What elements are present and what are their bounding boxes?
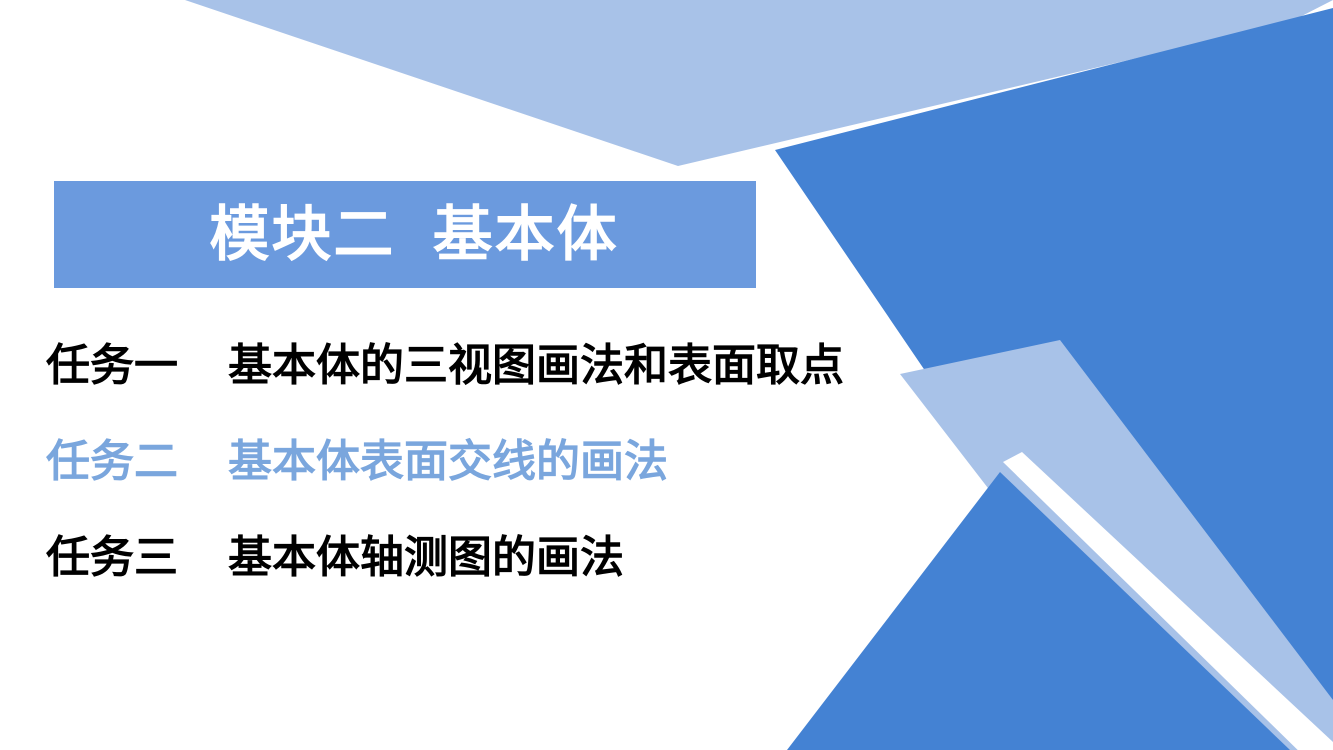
task-item-3-title: 基本体轴测图的画法 [228,510,624,606]
task-list: 任务一 基本体的三视图画法和表面取点 任务二 基本体表面交线的画法 任务三 基本… [46,318,1026,606]
task-item-2-title: 基本体表面交线的画法 [228,414,668,510]
task-item-2[interactable]: 任务二 基本体表面交线的画法 [46,414,1026,510]
slide-canvas: 模块二 基本体 任务一 基本体的三视图画法和表面取点 任务二 基本体表面交线的画… [0,0,1333,750]
task-item-2-label: 任务二 [46,414,228,510]
module-title-text: 模块二 基本体 [209,205,618,265]
task-item-1-title: 基本体的三视图画法和表面取点 [228,318,844,414]
slide-content: 模块二 基本体 任务一 基本体的三视图画法和表面取点 任务二 基本体表面交线的画… [0,0,1333,750]
task-item-3-label: 任务三 [46,510,228,606]
task-item-1-label: 任务一 [46,318,228,414]
task-item-1[interactable]: 任务一 基本体的三视图画法和表面取点 [46,318,1026,414]
task-item-3[interactable]: 任务三 基本体轴测图的画法 [46,510,1026,606]
module-title-banner: 模块二 基本体 [54,181,756,288]
